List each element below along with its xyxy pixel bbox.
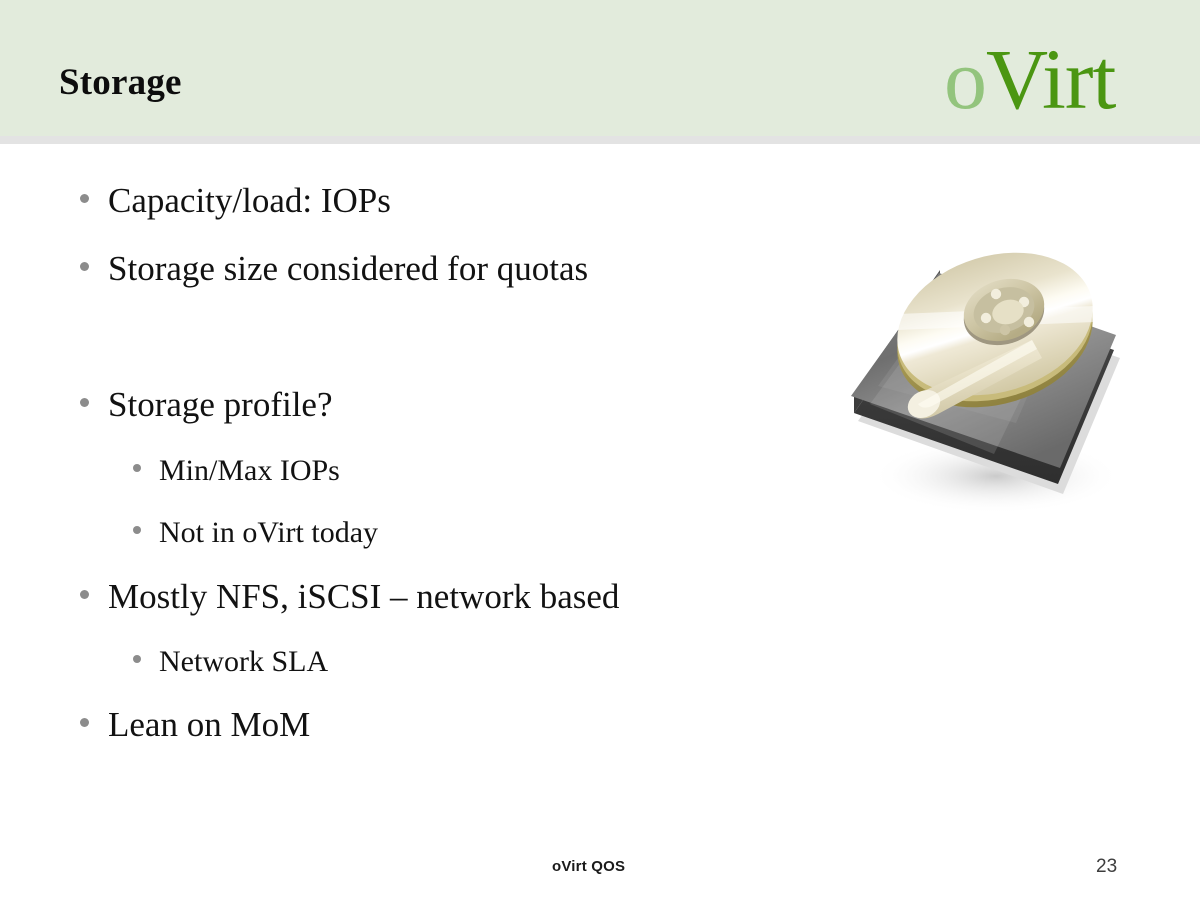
bullet-dot-icon — [80, 590, 89, 599]
bullet-item: Not in oVirt today — [133, 516, 378, 550]
bullet-text: Storage size considered for quotas — [108, 249, 588, 289]
slide-canvas: Storage oVirt Capacity/load: IOPsStorage… — [0, 0, 1200, 900]
bullet-dot-icon — [133, 655, 141, 663]
logo-letter-o: o — [944, 31, 986, 127]
ovirt-logo: oVirt — [944, 34, 1115, 124]
bullet-item: Storage profile? — [80, 385, 333, 425]
bullet-item: Storage size considered for quotas — [80, 249, 588, 289]
bullet-text: Lean on MoM — [108, 705, 310, 745]
page-title: Storage — [59, 61, 182, 105]
bullet-item: Network SLA — [133, 645, 328, 679]
bullet-text: Network SLA — [159, 645, 328, 679]
bullet-dot-icon — [80, 718, 89, 727]
bullet-item: Mostly NFS, iSCSI – network based — [80, 577, 619, 617]
slide-footer: oVirt QOS — [552, 858, 625, 876]
hard-disk-icon — [818, 218, 1163, 518]
bullet-text: Min/Max IOPs — [159, 454, 340, 488]
bullet-text: Mostly NFS, iSCSI – network based — [108, 577, 619, 617]
header-divider — [0, 136, 1200, 144]
bullet-dot-icon — [133, 464, 141, 472]
bullet-item: Lean on MoM — [80, 705, 310, 745]
bullet-text: Not in oVirt today — [159, 516, 378, 550]
bullet-dot-icon — [80, 262, 89, 271]
footer-topic: QOS — [591, 858, 625, 875]
bullet-dot-icon — [80, 398, 89, 407]
page-number: 23 — [1096, 856, 1136, 878]
logo-word-virt: Virt — [986, 31, 1115, 127]
bullet-dot-icon — [133, 526, 141, 534]
bullet-dot-icon — [80, 194, 89, 203]
bullet-item: Min/Max IOPs — [133, 454, 340, 488]
footer-brand: oVirt — [552, 858, 591, 875]
bullet-text: Storage profile? — [108, 385, 333, 425]
bullet-text: Capacity/load: IOPs — [108, 181, 391, 221]
bullet-item: Capacity/load: IOPs — [80, 181, 391, 221]
